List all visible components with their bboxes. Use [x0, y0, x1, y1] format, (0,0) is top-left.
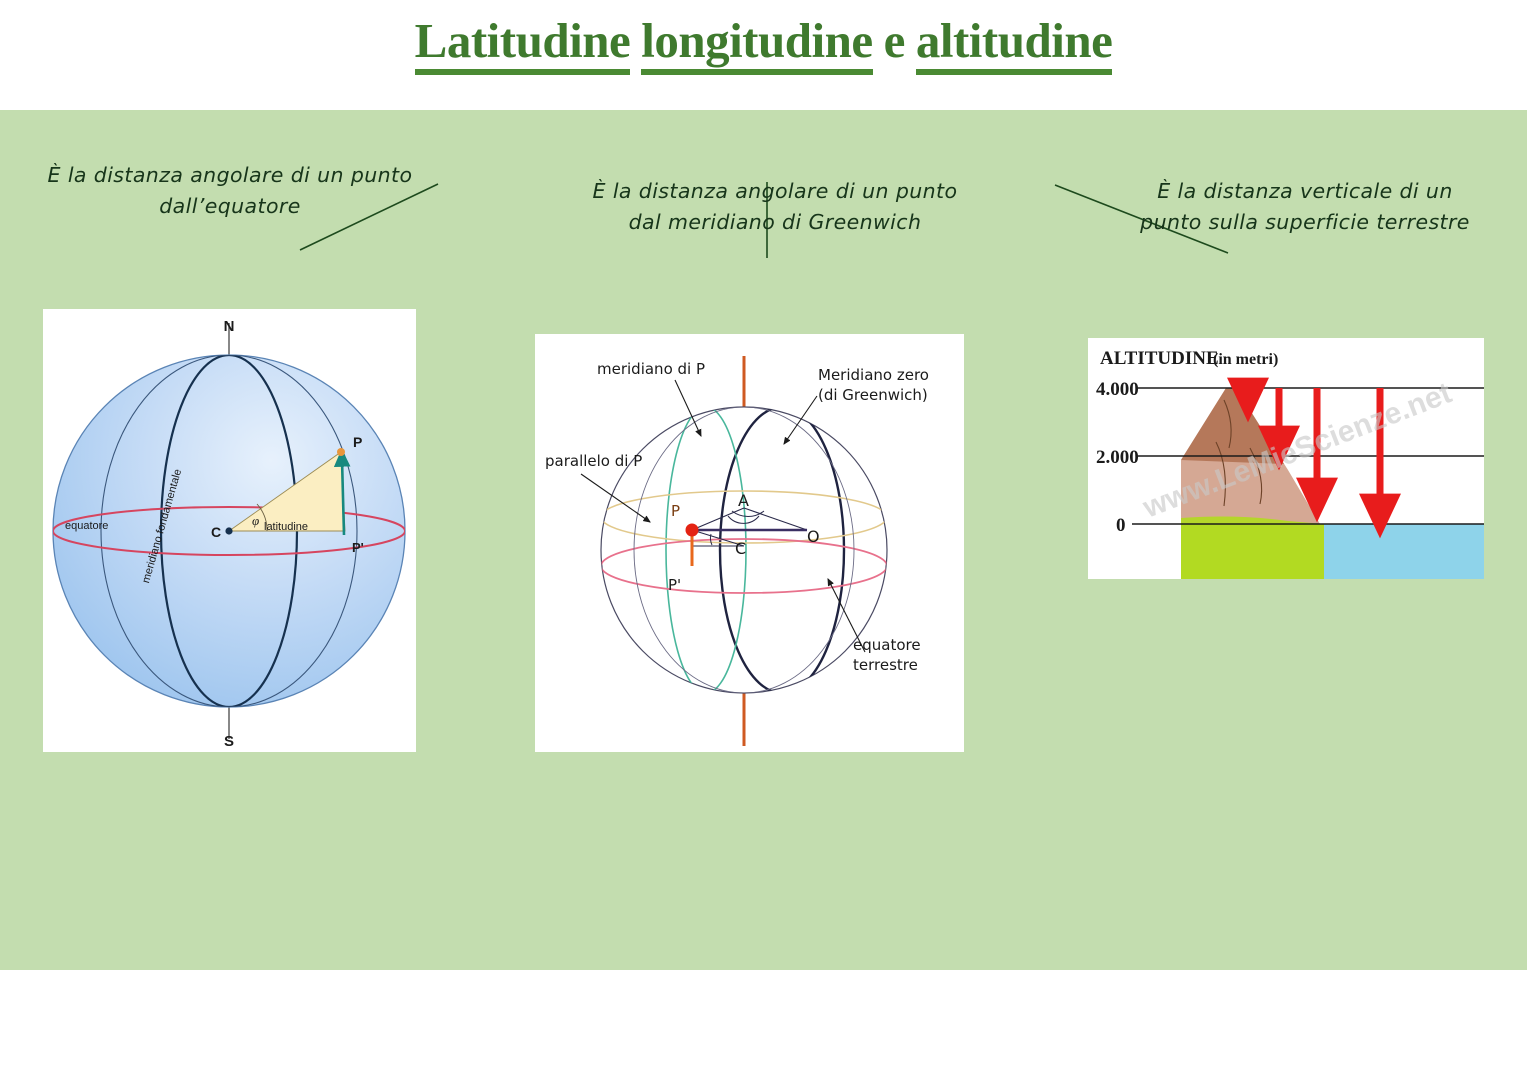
- title-word-latitudine: Latitudine: [415, 13, 631, 75]
- label-meridiano-di-p: meridiano di P: [597, 360, 705, 378]
- label-point-p-prime: P': [352, 540, 364, 555]
- point-p-marker: [686, 524, 699, 537]
- label-meridiano-zero-line2: (di Greenwich): [818, 386, 928, 404]
- label-point-p: P: [353, 434, 362, 450]
- label-equatore-line2: terrestre: [853, 656, 918, 674]
- label-point-c: C: [211, 524, 221, 540]
- title-word-longitudine: longitudine: [641, 13, 872, 75]
- ytick-2000: 2.000: [1096, 447, 1139, 468]
- title-word-altitudine: altitudine: [916, 13, 1112, 75]
- caption-longitudine: È la distanza angolare di un punto dal m…: [585, 176, 965, 238]
- label-equator: equatore: [65, 520, 108, 532]
- label-angle-phi: φ: [252, 513, 259, 528]
- label-angle-latitudine: latitudine: [264, 521, 308, 533]
- chart-heading-unit: (in metri): [1213, 351, 1278, 368]
- title-word-e: e: [884, 13, 905, 68]
- label-parallelo-di-p: parallelo di P: [545, 452, 642, 470]
- label-point-c: C: [735, 539, 746, 558]
- caption-latitudine: È la distanza angolare di un punto dall’…: [45, 160, 415, 222]
- ytick-0: 0: [1116, 515, 1126, 536]
- label-north-pole: N: [224, 318, 235, 335]
- ytick-4000: 4.000: [1096, 379, 1139, 400]
- figure-altitude-profile: www.LeMieScienze.net ALTITUDINE (in metr…: [1088, 338, 1484, 579]
- label-meridiano-zero-line1: Meridiano zero: [818, 366, 929, 384]
- chart-heading: ALTITUDINE: [1100, 348, 1219, 369]
- label-point-a: A: [738, 491, 749, 510]
- sea-water: [1324, 524, 1484, 579]
- page-title: Latitudinelongitudineealtitudine: [0, 12, 1527, 69]
- figure-longitude-sphere: meridiano di P Meridiano zero (di Greenw…: [535, 334, 964, 752]
- point-c-marker: [225, 527, 232, 534]
- label-south-pole: S: [224, 733, 234, 750]
- label-point-p-prime: P': [668, 576, 681, 594]
- point-p-marker: [337, 448, 345, 456]
- label-point-p: P: [671, 502, 680, 520]
- caption-altitudine: È la distanza verticale di un punto sull…: [1125, 176, 1485, 238]
- label-point-o: O: [807, 527, 820, 546]
- label-equatore-line1: equatore: [853, 636, 921, 654]
- figure-latitude-sphere: N S P P' C equatore φ latitudine meridia…: [43, 309, 416, 752]
